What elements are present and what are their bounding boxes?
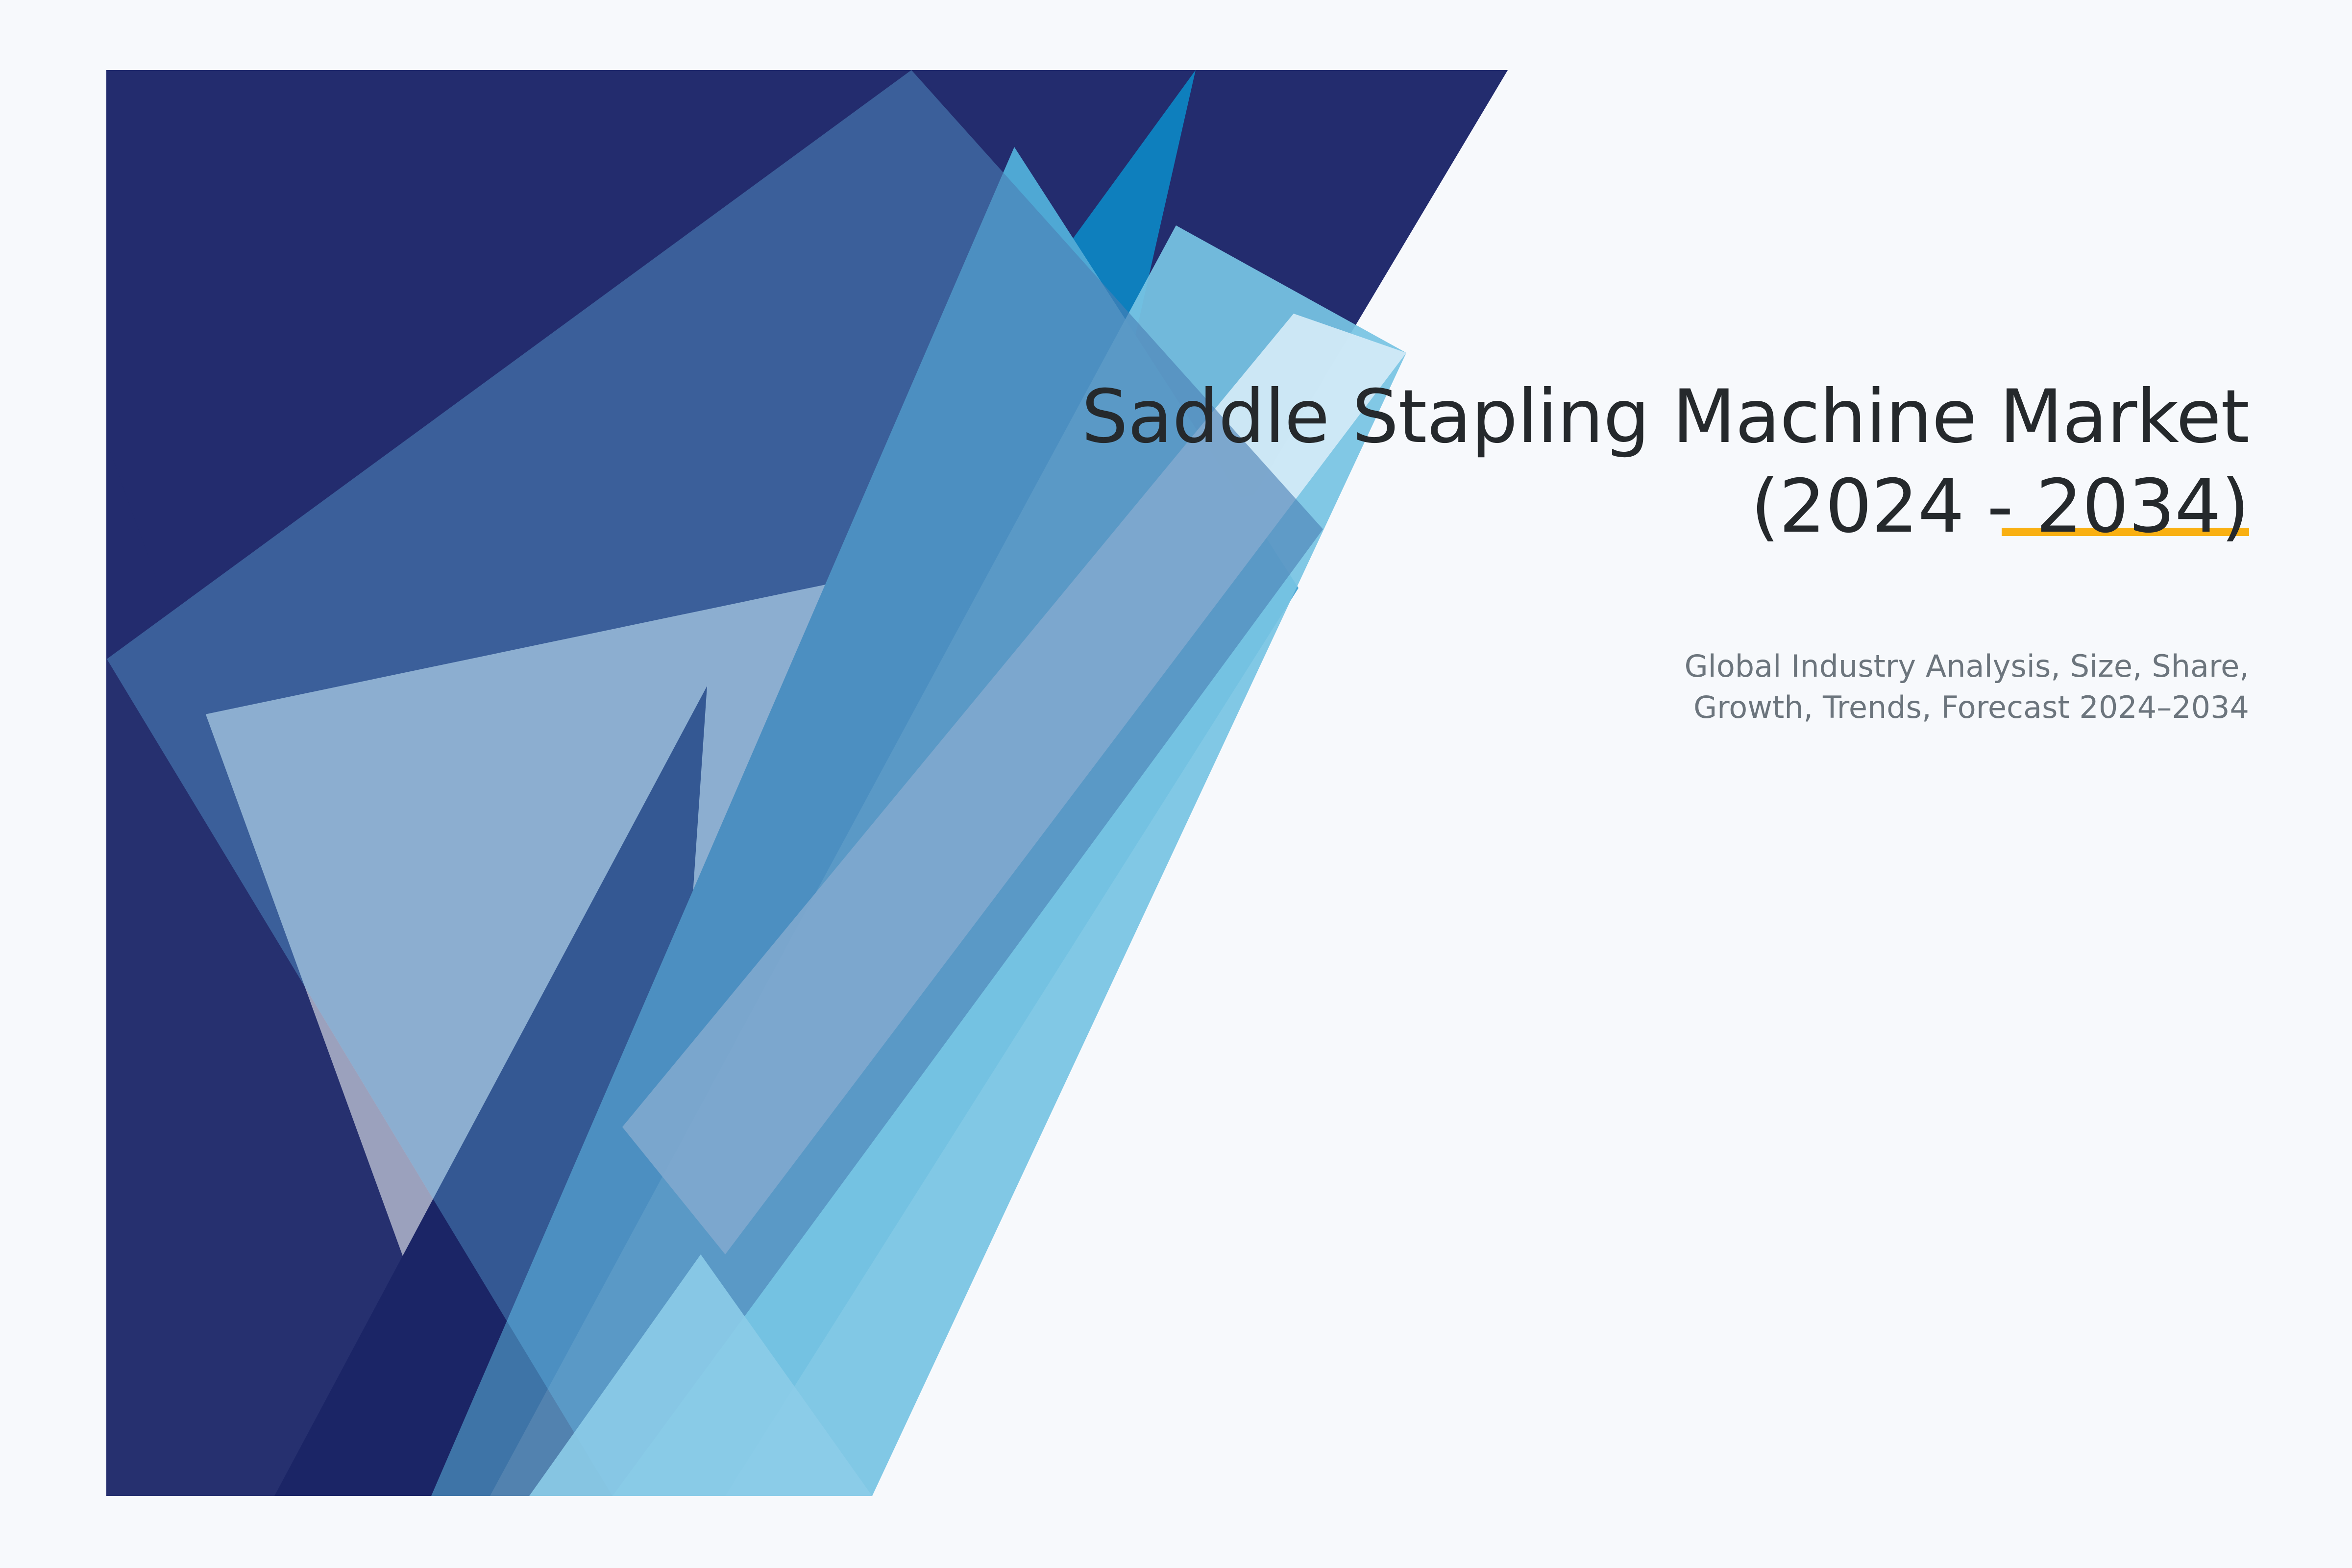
page-title: Saddle Stapling Machine Market (2024 - 2… — [980, 372, 2249, 552]
title-block: Saddle Stapling Machine Market (2024 - 2… — [980, 372, 2249, 552]
shape-cyan-sliver — [1068, 70, 1196, 372]
shape-navy-lower-left — [106, 441, 490, 1496]
shape-mid-blue-ribbon — [431, 147, 1298, 1496]
page-subtitle: Global Industry Analysis, Size, Share, G… — [1421, 646, 2249, 729]
shape-cyan-wedge — [106, 70, 931, 495]
cover-page: Saddle Stapling Machine Market (2024 - 2… — [0, 0, 2352, 1568]
shape-navy-depth-overlay — [107, 659, 612, 1496]
artwork-backdrop — [106, 70, 1508, 1496]
shape-light-wedge-bottom — [529, 1254, 872, 1496]
abstract-geometric-artwork — [0, 0, 2352, 1568]
artwork-svg — [0, 0, 2352, 1568]
shape-deep-navy-spike — [274, 686, 707, 1496]
shape-steel-blue-overlay — [107, 70, 1323, 1496]
